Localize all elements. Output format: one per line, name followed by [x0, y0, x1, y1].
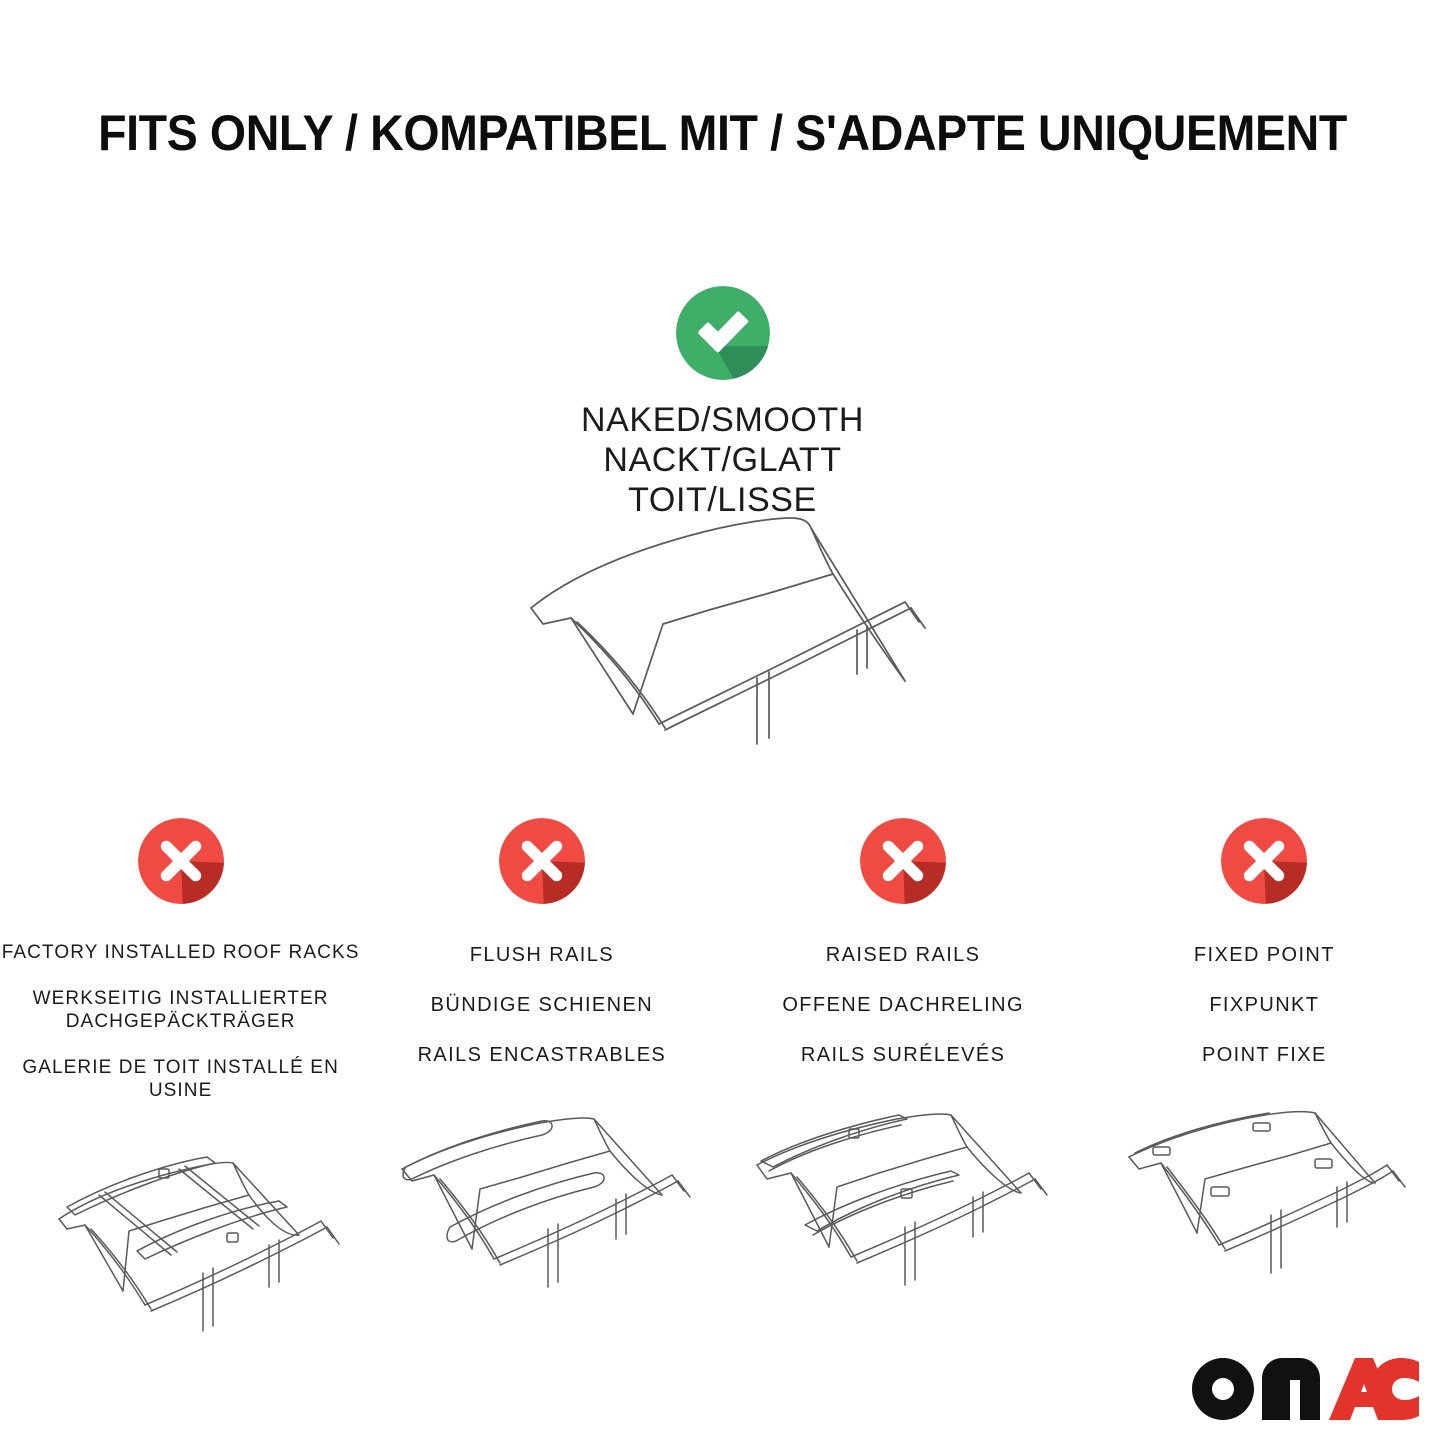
- label-de: BÜNDIGE SCHIENEN: [418, 993, 667, 1018]
- raised-rails-illustration: [733, 1109, 1073, 1329]
- incompatible-label: FLUSH RAILS BÜNDIGE SCHIENEN RAILS ENCAS…: [418, 918, 667, 1093]
- incompatible-label: FIXED POINT FIXPUNKT POINT FIXE: [1194, 918, 1335, 1093]
- label-de: WERKSEITIG INSTALLIERTER DACHGEPÄCKTRÄGE…: [0, 987, 361, 1033]
- compatibility-infographic: FITS ONLY / KOMPATIBEL MIT / S'ADAPTE UN…: [0, 0, 1445, 1445]
- label-en: RAISED RAILS: [782, 943, 1024, 968]
- label-de: OFFENE DACHRELING: [782, 993, 1024, 1018]
- label-de: FIXPUNKT: [1194, 993, 1335, 1018]
- compatible-section: NAKED/SMOOTH NACKT/GLATT TOIT/LISSE: [0, 286, 1445, 520]
- label-fr: POINT FIXE: [1194, 1043, 1335, 1068]
- flush-rails-illustration: [372, 1109, 712, 1329]
- fixed-point-illustration: [1119, 1109, 1409, 1329]
- incompatible-section: FACTORY INSTALLED ROOF RACKS WERKSEITIG …: [0, 818, 1445, 1361]
- incompatible-item-flush-rails: FLUSH RAILS BÜNDIGE SCHIENEN RAILS ENCAS…: [361, 818, 722, 1361]
- red-x-icon: [860, 818, 946, 904]
- label-fr: RAILS SURÉLEVÉS: [782, 1043, 1024, 1068]
- incompatible-label: FACTORY INSTALLED ROOF RACKS WERKSEITIG …: [0, 918, 361, 1125]
- naked-smooth-roof-illustration: [0, 496, 1445, 746]
- incompatible-item-fixed-point: FIXED POINT FIXPUNKT POINT FIXE: [1084, 818, 1445, 1361]
- compatible-label-en: NAKED/SMOOTH: [0, 400, 1445, 440]
- red-x-icon: [138, 818, 224, 904]
- label-en: FIXED POINT: [1194, 943, 1335, 968]
- factory-roof-rack-illustration: [11, 1141, 351, 1361]
- incompatible-item-raised-rails: RAISED RAILS OFFENE DACHRELING RAILS SUR…: [723, 818, 1084, 1361]
- label-fr: GALERIE DE TOIT INSTALLÉ EN USINE: [0, 1056, 361, 1102]
- page-title: FITS ONLY / KOMPATIBEL MIT / S'ADAPTE UN…: [51, 104, 1395, 162]
- label-fr: RAILS ENCASTRABLES: [418, 1043, 667, 1068]
- label-en: FACTORY INSTALLED ROOF RACKS: [0, 941, 361, 964]
- incompatible-label: RAISED RAILS OFFENE DACHRELING RAILS SUR…: [782, 918, 1024, 1093]
- omac-logo: OMAC: [1192, 1358, 1420, 1420]
- compatible-label-de: NACKT/GLATT: [0, 440, 1445, 480]
- incompatible-item-factory-roof-racks: FACTORY INSTALLED ROOF RACKS WERKSEITIG …: [0, 818, 361, 1361]
- red-x-icon: [1221, 818, 1307, 904]
- label-en: FLUSH RAILS: [418, 943, 667, 968]
- green-check-icon: [676, 286, 770, 380]
- red-x-icon: [499, 818, 585, 904]
